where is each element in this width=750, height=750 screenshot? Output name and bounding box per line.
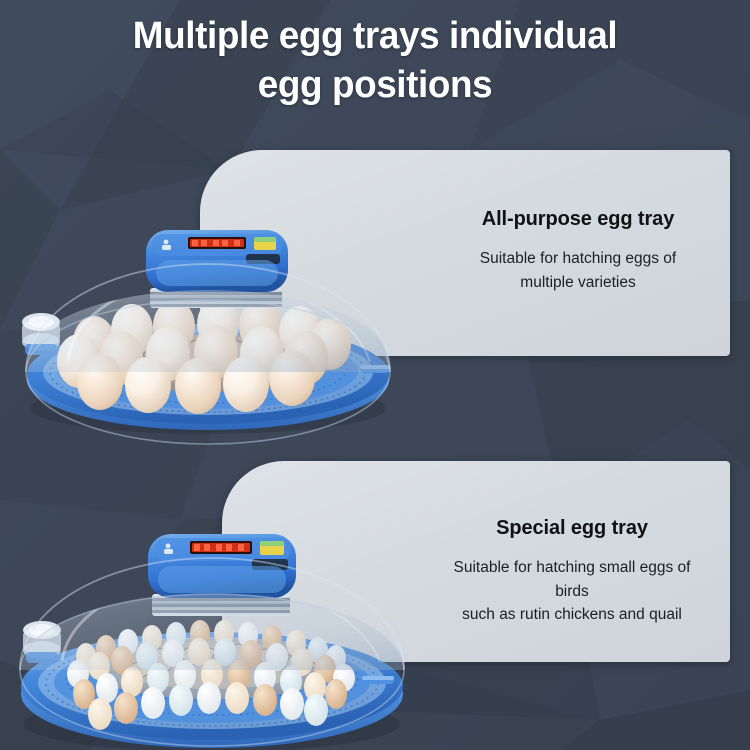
panel-body-all-purpose: Suitable for hatching eggs of multiple v… — [448, 247, 708, 294]
panel-title-special: Special egg tray — [438, 517, 706, 540]
page-title: Multiple egg trays individual egg positi… — [11, 12, 739, 111]
panel-body-special: Suitable for hatching small eggs of bird… — [438, 556, 706, 627]
egg-incubator-large-eggs — [8, 222, 408, 447]
product-infographic: Multiple egg trays individual egg positi… — [0, 0, 750, 750]
panel-title-all-purpose: All-purpose egg tray — [448, 208, 708, 231]
egg-incubator-small-eggs — [0, 528, 420, 750]
